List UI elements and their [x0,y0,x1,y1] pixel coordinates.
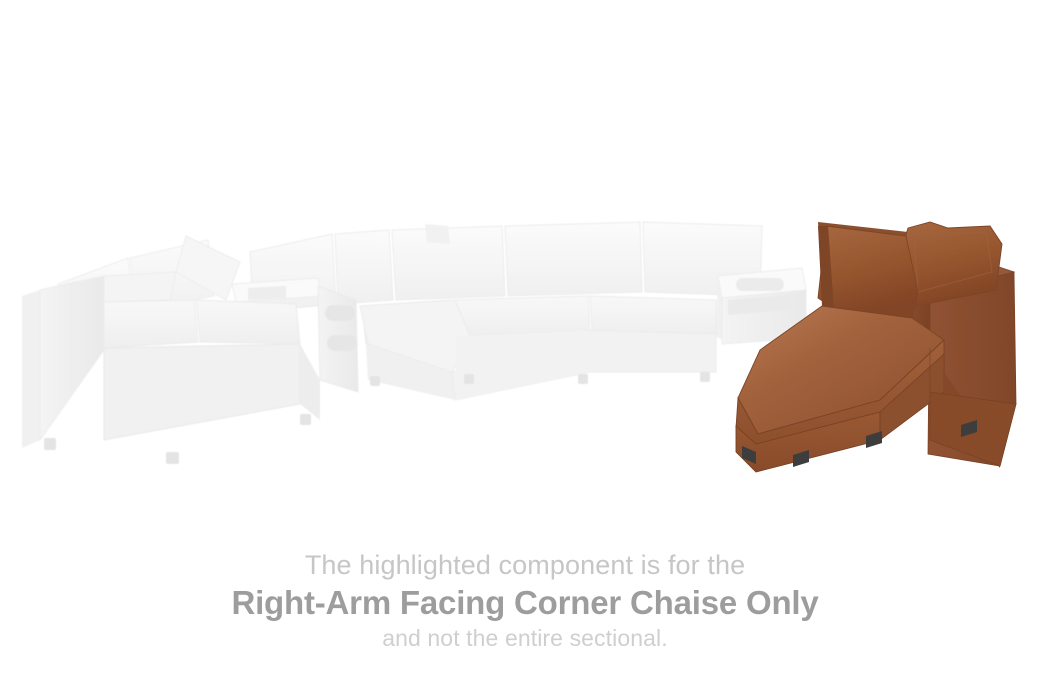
caption-line-disclaimer: and not the entire sectional. [0,623,1050,653]
screenshot-root: The highlighted component is for the Rig… [0,0,1050,700]
highlighted-raf-corner-chaise [736,222,1016,472]
caption-block: The highlighted component is for the Rig… [0,548,1050,653]
ghost-console-slot [327,335,357,351]
sectional-illustration [0,0,1050,540]
ghost-left-arm-side [22,290,40,448]
ghost-base-front-mid [455,330,590,400]
caption-line-component-name: Right-Arm Facing Corner Chaise Only [0,582,1050,623]
sectional-illustration-svg [0,0,1050,540]
ghost-seat-cushions-left [100,300,300,348]
caption-line-intro: The highlighted component is for the [0,548,1050,582]
ghost-corner-seam [425,224,450,244]
ghost-base-left-edge [300,344,320,420]
ghost-base-front-left [104,344,300,440]
ghost-console-slot [325,305,355,321]
ghost-cupholder [248,286,286,300]
ghost-left-arm-panel [40,276,104,440]
ghost-cupholder [736,278,784,291]
ghosted-sectional [22,222,806,464]
